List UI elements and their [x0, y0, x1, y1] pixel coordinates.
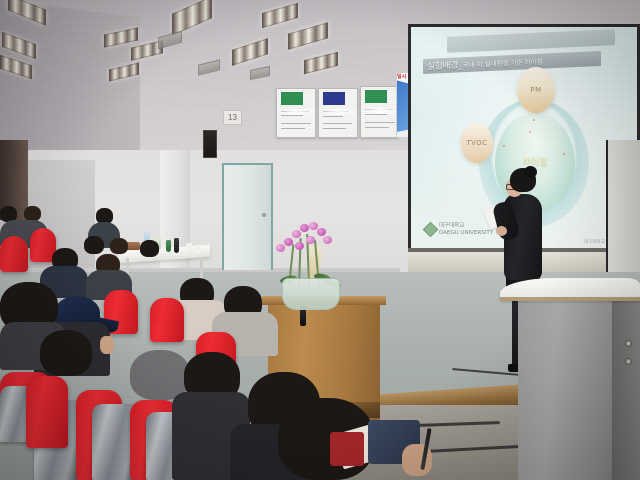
audience-head — [40, 330, 92, 376]
orchid-flower — [309, 222, 318, 230]
lectern-screw-icon — [625, 358, 632, 365]
orchid-flower — [295, 242, 304, 250]
orchid-flower — [276, 244, 285, 252]
slide-logo-text: 대구대학교 DAEGU UNIVERSITY — [439, 223, 493, 237]
presenter-hand — [496, 226, 507, 236]
audience-head — [24, 206, 41, 221]
auditorium-seat[interactable] — [26, 376, 68, 448]
poster-line — [365, 127, 389, 128]
slide-university-logo: 대구대학교 DAEGU UNIVERSITY — [425, 223, 493, 237]
slide-bubble-tvoc: TVOC — [461, 123, 493, 163]
presenter-hair-bun — [524, 166, 537, 178]
orchid-flower — [323, 236, 332, 244]
poster-line — [365, 122, 395, 123]
orchid-flower — [306, 236, 315, 244]
poster-line — [323, 128, 346, 129]
slide-logo-line1: 대구대학교 — [439, 223, 493, 230]
poster-glare — [319, 109, 357, 115]
orchid-arrangement — [262, 218, 350, 310]
room-number-sign: 13 — [223, 110, 242, 125]
auditorium-seat[interactable] — [0, 236, 28, 272]
poster-glare — [277, 109, 315, 115]
slide-bubble-pm: PM — [517, 67, 555, 113]
lectern-side-panel — [612, 296, 640, 480]
paper-cup — [186, 243, 192, 252]
slide-bubble-tvoc-label: TVOC — [466, 139, 487, 147]
orchid-flower — [284, 238, 293, 246]
beverage-bottle — [174, 238, 179, 253]
wall-poster — [360, 86, 400, 138]
audience-bag — [330, 432, 364, 466]
lectern-top-edge — [500, 297, 640, 301]
right-side-panel — [606, 140, 640, 280]
wall-poster — [318, 88, 358, 138]
poster-line — [365, 114, 387, 115]
slide-dot — [563, 153, 565, 155]
wall-speaker — [203, 130, 217, 158]
orchid-pot — [282, 278, 340, 310]
poster-line — [323, 116, 343, 117]
photo-scene: 13 대구 대 일시 2009. 11. 실험배경_국내·외 실내환경 기준 차… — [0, 0, 640, 480]
poster-line — [281, 128, 305, 129]
slide-dot — [529, 131, 531, 133]
poster-line — [281, 123, 311, 124]
audience-hand — [100, 336, 114, 354]
banner-footer-label: 일시 — [397, 74, 406, 80]
beverage-can — [166, 240, 171, 252]
slide-dot — [503, 145, 505, 147]
slide-core-label: 차이점 — [507, 155, 563, 168]
poster-glare — [361, 108, 399, 114]
poster-line — [323, 123, 352, 124]
poster-accent-band — [281, 92, 303, 105]
slide-logo-line2: DAEGU UNIVERSITY — [439, 230, 493, 237]
door-knob-icon[interactable] — [262, 213, 266, 217]
orchid-flower — [300, 224, 309, 232]
audience-head — [140, 240, 159, 257]
lectern-screw-icon — [625, 340, 632, 347]
logo-diamond-icon — [423, 222, 439, 238]
orchid-flower — [292, 230, 301, 238]
wall-poster — [276, 88, 316, 138]
auditorium-seat[interactable] — [150, 298, 184, 342]
audience-head — [110, 238, 128, 254]
poster-accent-band — [365, 90, 387, 103]
orchid-flower — [317, 228, 326, 236]
poster-accent-band — [323, 92, 345, 105]
slide-title-main: 실험배경_ — [427, 60, 463, 72]
slide-bubble-pm-label: PM — [530, 86, 541, 94]
slide-dot — [533, 119, 535, 121]
paper-cup — [195, 245, 201, 254]
audience-head — [84, 236, 104, 254]
